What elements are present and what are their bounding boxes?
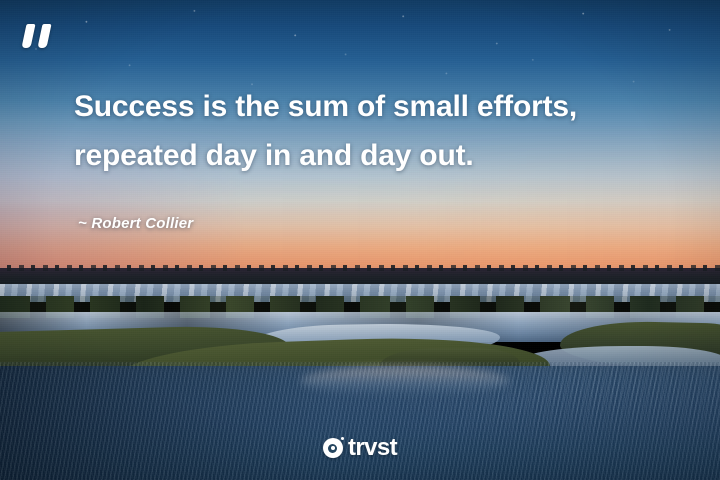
quote-text: Success is the sum of small efforts, rep…	[74, 82, 674, 180]
quote-line-2: repeated day in and day out.	[74, 131, 674, 180]
brand-name: trvst	[348, 434, 397, 462]
open-quote-icon	[22, 22, 64, 56]
quote-stroke-left	[21, 24, 35, 48]
quote-card: Success is the sum of small efforts, rep…	[0, 0, 720, 480]
quote-line-1: Success is the sum of small efforts,	[74, 82, 674, 131]
trvst-ring-icon	[323, 438, 343, 458]
trvst-accent-dot-icon	[341, 437, 344, 440]
quote-stroke-right	[37, 24, 51, 48]
quote-attribution: ~ Robert Collier	[78, 215, 193, 232]
brand-logo[interactable]: trvst	[0, 434, 720, 462]
distant-treeline	[0, 268, 720, 284]
